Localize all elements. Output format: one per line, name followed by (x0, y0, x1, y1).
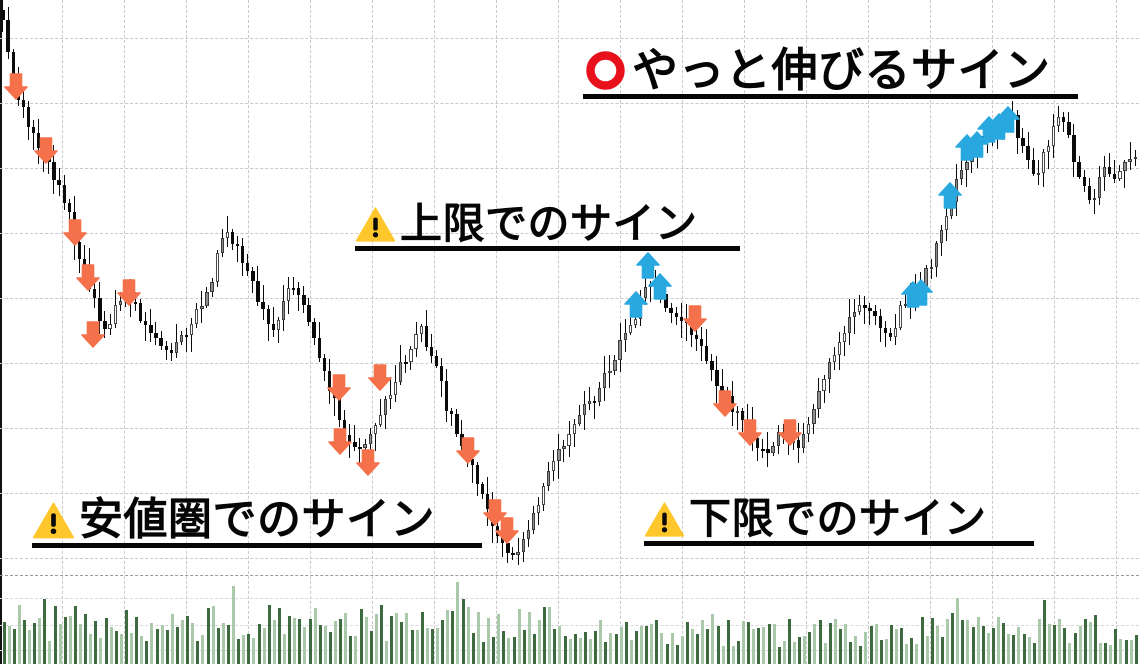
candlestick (522, 532, 525, 562)
annotation-label: 下限でのサイン (689, 498, 987, 540)
volume-bar (13, 629, 16, 664)
candlestick (251, 267, 254, 293)
sell-signal-arrow-icon (455, 436, 481, 464)
candlestick (873, 305, 876, 325)
sell-signal-arrow-icon (367, 363, 393, 391)
volume-bar (543, 607, 546, 664)
volume-bar (446, 610, 449, 664)
candle-body (965, 162, 968, 170)
candlestick (159, 331, 162, 350)
candlestick (557, 434, 560, 478)
volume-bar (8, 626, 11, 664)
candle-wick (864, 296, 865, 324)
candlestick (374, 423, 377, 450)
candle-body (1021, 138, 1024, 146)
volume-bar (1099, 643, 1102, 664)
volume-bar (635, 631, 638, 664)
volume-bar (33, 623, 36, 664)
volume-bar (273, 620, 276, 664)
volume-bar (513, 637, 516, 664)
candlestick (379, 399, 382, 427)
candlestick (1021, 128, 1024, 154)
volume-bar (650, 624, 653, 664)
volume-bar (762, 627, 765, 664)
volume-bar (864, 632, 867, 664)
candle-body (1113, 174, 1116, 179)
volume-bar (1007, 634, 1010, 664)
sell-signal-arrow-icon (494, 516, 520, 544)
candle-body (511, 553, 514, 556)
volume-bar (829, 623, 832, 664)
candle-body (573, 424, 576, 434)
candlestick (1057, 106, 1060, 132)
candlestick (1052, 114, 1055, 158)
volume-bar (278, 608, 281, 664)
candlestick (552, 450, 555, 481)
candle-body (960, 170, 963, 179)
candlestick (267, 305, 270, 341)
annotation-underline (644, 541, 1034, 546)
candlestick (277, 317, 280, 343)
candlestick (527, 520, 530, 547)
candlestick (63, 175, 66, 210)
candle-body (1088, 186, 1091, 200)
candle-body (216, 253, 219, 282)
candle-body (833, 355, 836, 362)
volume-bar (737, 641, 740, 664)
candlestick (1047, 140, 1050, 169)
candle-wick (594, 396, 595, 419)
candle-wick (237, 236, 238, 262)
volume-bar (400, 622, 403, 664)
volume-bar (161, 625, 164, 664)
candle-body (608, 371, 611, 373)
candle-body (205, 292, 208, 305)
volume-bar (64, 617, 67, 664)
buy-signal-arrow-icon (995, 106, 1021, 134)
volume-bar (135, 617, 138, 664)
volume-bar (1058, 619, 1061, 664)
volume-bar (1125, 640, 1128, 664)
sell-signal-arrow-icon (80, 320, 106, 348)
candle-body (394, 382, 397, 394)
candle-body (231, 232, 234, 244)
candle-body (302, 295, 305, 305)
candle-body (532, 513, 535, 530)
gridline-horizontal (0, 103, 1139, 104)
candle-body (894, 328, 897, 337)
volume-bar (951, 613, 954, 664)
candlestick (455, 409, 458, 436)
candlestick (598, 382, 601, 406)
sell-signal-arrow-icon (326, 373, 352, 401)
volume-bar (518, 609, 521, 664)
candle-body (858, 305, 861, 312)
candlestick (511, 547, 514, 560)
volume-bar (227, 625, 230, 664)
volume-bar (1135, 635, 1138, 664)
candlestick (583, 391, 586, 430)
volume-bar (303, 627, 306, 664)
candlestick (404, 355, 407, 374)
candlestick (588, 387, 591, 410)
candle-body (389, 395, 392, 399)
candlestick (822, 375, 825, 403)
candle-wick (1114, 160, 1115, 183)
volume-bar (237, 639, 240, 664)
volume-bar (462, 599, 465, 664)
candlestick (1042, 149, 1045, 187)
volume-bar (319, 625, 322, 664)
candlestick (384, 396, 387, 429)
candle-body (567, 434, 570, 446)
candle-body (527, 530, 530, 539)
volume-bar (926, 636, 929, 664)
candle-body (379, 415, 382, 425)
volume-bar (1114, 629, 1117, 664)
candle-body (761, 449, 764, 451)
candle-wick (1063, 112, 1064, 132)
volume-bar (1119, 639, 1122, 664)
candle-body (369, 434, 372, 444)
candle-wick (145, 312, 146, 341)
candle-body (822, 379, 825, 391)
volume-bar (268, 605, 271, 664)
volume-bar (1038, 619, 1041, 664)
sell-signal-arrow-icon (712, 389, 738, 417)
candle-body (323, 358, 326, 371)
volume-bar (706, 629, 709, 664)
volume-bar (778, 647, 781, 664)
volume-bar (599, 620, 602, 664)
candle-body (1077, 162, 1080, 177)
candle-body (516, 552, 519, 555)
candle-body (180, 335, 183, 342)
annotation-upper-middle: 上限でのサイン (355, 203, 698, 245)
candle-body (307, 305, 310, 322)
candlestick (1037, 160, 1040, 184)
gridline-vertical (930, 0, 931, 664)
candlestick (879, 309, 882, 342)
candle-body (562, 446, 565, 448)
volume-bar (788, 619, 791, 664)
candlestick (1083, 170, 1086, 192)
volume-bar (380, 605, 383, 664)
volume-bar (125, 610, 128, 664)
candle-wick (1048, 140, 1049, 169)
volume-bar (166, 630, 169, 664)
candle-body (506, 543, 509, 553)
candlestick (858, 295, 861, 315)
volume-bar (523, 630, 526, 664)
volume-bar (349, 636, 352, 664)
candle-body (159, 338, 162, 346)
volume-bar (1053, 625, 1056, 664)
gridline-horizontal (0, 558, 1139, 559)
candlestick (149, 309, 152, 342)
volume-bar (324, 626, 327, 664)
volume-bar (390, 616, 393, 664)
candle-body (149, 325, 152, 333)
candle-body (399, 362, 402, 382)
candle-body (715, 370, 718, 386)
candlestick (246, 254, 249, 276)
candle-body (1072, 135, 1075, 162)
buy-signal-arrow-icon (908, 279, 934, 307)
candle-body (267, 309, 270, 325)
volume-bar (145, 641, 148, 664)
volume-bar (972, 627, 975, 664)
volume-bar (288, 616, 291, 664)
candle-body (583, 404, 586, 415)
candle-body (287, 288, 290, 301)
candlestick (256, 266, 259, 306)
candlestick (573, 419, 576, 447)
volume-bar (18, 605, 21, 664)
candlestick (868, 303, 871, 326)
volume-bar (258, 624, 261, 664)
volume-bar (701, 620, 704, 664)
candle-body (884, 328, 887, 332)
candle-wick (186, 328, 187, 352)
candlestick (1032, 148, 1035, 176)
candle-body (312, 322, 315, 339)
volume-bar (824, 643, 827, 664)
candlestick (318, 322, 321, 362)
candlestick (409, 346, 412, 370)
volume-bar (946, 619, 949, 664)
volume-bar (997, 617, 1000, 664)
candle-body (1093, 198, 1096, 200)
volume-bar (900, 628, 903, 664)
volume-bar (344, 613, 347, 664)
volume-bar (885, 639, 888, 664)
volume-bar (212, 606, 215, 664)
volume-bar (28, 630, 31, 664)
volume-bar (201, 635, 204, 664)
volume-bar (1089, 622, 1092, 664)
gridline-vertical (310, 0, 311, 664)
candle-body (1062, 117, 1065, 121)
candlestick (154, 322, 157, 344)
candle-body (879, 316, 882, 329)
candle-body (221, 238, 224, 253)
volume-bar (696, 634, 699, 664)
volume-bar (747, 622, 750, 664)
volume-bar (411, 630, 414, 664)
volume-bar (895, 629, 898, 664)
volume-bar (574, 634, 577, 664)
candle-body (292, 288, 295, 290)
candlestick (884, 321, 887, 347)
volume-bar (1063, 628, 1066, 664)
candlestick (532, 506, 535, 535)
candle-body (1134, 157, 1137, 159)
candlestick (1128, 142, 1131, 171)
candlestick (1118, 165, 1121, 181)
volume-bar (416, 630, 419, 664)
candlestick (6, 7, 9, 59)
sell-signal-arrow-icon (682, 304, 708, 332)
volume-bar (456, 582, 459, 664)
candle-body (63, 185, 66, 203)
gridline-vertical (1054, 0, 1055, 664)
candlestick (618, 323, 621, 372)
candle-body (430, 347, 433, 356)
candlestick (1113, 160, 1116, 183)
candle-body (318, 338, 321, 358)
candle-body (817, 391, 820, 410)
candlestick (312, 318, 315, 345)
candle-body (603, 373, 606, 388)
candlestick (945, 207, 948, 241)
warning-icon (644, 499, 685, 540)
candlestick (817, 378, 820, 418)
sell-signal-arrow-icon (355, 448, 381, 476)
volume-bar (630, 640, 633, 664)
volume-bar (74, 606, 77, 664)
candle-wick (563, 440, 564, 462)
candle-body (766, 449, 769, 454)
candlestick (562, 440, 565, 462)
candle-body (578, 415, 581, 424)
candlestick (537, 497, 540, 525)
volume-bar (507, 638, 510, 664)
candle-body (1026, 146, 1029, 160)
candlestick (838, 332, 841, 370)
candle-body (613, 360, 616, 370)
candle-body (1118, 171, 1121, 179)
volume-bar (722, 646, 725, 664)
annotation-bottom-right: 下限でのサイン (644, 498, 987, 540)
candle-body (547, 471, 550, 486)
candlestick (624, 319, 627, 352)
candle-body (175, 342, 178, 353)
annotation-bottom-left: 安値圏でのサイン (32, 498, 435, 542)
volume-bar (615, 634, 618, 664)
volume-bar (242, 635, 245, 664)
volume-bar (742, 621, 745, 664)
candle-body (812, 409, 815, 423)
sell-signal-arrow-icon (327, 427, 353, 455)
candle-body (420, 326, 423, 334)
volume-bar (752, 629, 755, 664)
volume-bar (115, 631, 118, 664)
sell-signal-arrow-icon (75, 263, 101, 291)
volume-bar (329, 632, 332, 664)
candlestick (287, 277, 290, 314)
candlestick (1077, 156, 1080, 179)
candlestick (221, 229, 224, 258)
candle-body (522, 539, 525, 552)
candle-body (889, 333, 892, 337)
volume-bar (854, 636, 857, 664)
volume-bar (1104, 643, 1107, 664)
candle-wick (589, 387, 590, 410)
gridline-vertical (496, 0, 497, 664)
volume-bar (38, 618, 41, 664)
sell-signal-arrow-icon (62, 218, 88, 246)
annotation-underline (32, 543, 482, 548)
candle-body (165, 346, 168, 350)
volume-bar (314, 608, 317, 664)
volume-bar (849, 642, 852, 664)
candle-body (1083, 177, 1086, 186)
volume-bar (84, 614, 87, 664)
candle-body (1128, 159, 1131, 162)
sell-signal-arrow-icon (116, 278, 142, 306)
volume-bar (870, 626, 873, 664)
candlestick (476, 462, 479, 497)
candle-body (414, 334, 417, 348)
candle-body (624, 333, 627, 340)
volume-bar (589, 639, 592, 664)
volume-bar (1074, 633, 1077, 664)
candlestick (27, 101, 30, 141)
volume-bar (711, 614, 714, 664)
candlestick (567, 421, 570, 456)
candle-body (695, 335, 698, 339)
candle-wick (293, 277, 294, 295)
candle-body (1, 10, 4, 20)
gridline-vertical (558, 0, 559, 664)
volume-bar (293, 618, 296, 664)
volume-bar (645, 626, 648, 664)
candlestick (430, 334, 433, 363)
candlestick (414, 322, 417, 356)
candle-body (1057, 117, 1060, 125)
candle-body (1067, 122, 1070, 135)
candle-body (226, 232, 229, 239)
candle-body (1037, 173, 1040, 175)
volume-bar (492, 637, 495, 664)
candlestick (807, 417, 810, 442)
candlestick (144, 312, 147, 341)
candlestick (853, 299, 856, 334)
candle-body (246, 263, 249, 271)
candlestick (57, 168, 60, 196)
volume-bar (803, 636, 806, 664)
volume-bar (365, 617, 368, 664)
volume-bar (880, 640, 883, 664)
candle-body (272, 324, 275, 330)
candle-body (629, 325, 632, 332)
candlestick (940, 225, 943, 256)
annotation-label: やっと伸びるサイン (632, 47, 1051, 93)
candlestick (236, 236, 239, 262)
candle-body (771, 446, 774, 453)
volume-bar (1048, 624, 1051, 664)
candle-body (450, 411, 453, 414)
volume-bar (89, 634, 92, 664)
volume-bar (181, 620, 184, 664)
candlestick (1098, 166, 1101, 205)
volume-bar (3, 622, 6, 664)
volume-bar (472, 633, 475, 664)
candlestick (185, 328, 188, 352)
candle-body (404, 362, 407, 364)
price-axis-line (0, 0, 2, 664)
candlestick (1123, 160, 1126, 188)
candle-body (282, 301, 285, 320)
volume-bar (732, 646, 735, 664)
candle-body (935, 243, 938, 267)
candlestick (1, 0, 4, 32)
volume-bar (1068, 643, 1071, 664)
candle-wick (931, 259, 932, 279)
annotation-label: 上限でのサイン (400, 203, 698, 245)
volume-bar (263, 628, 266, 664)
